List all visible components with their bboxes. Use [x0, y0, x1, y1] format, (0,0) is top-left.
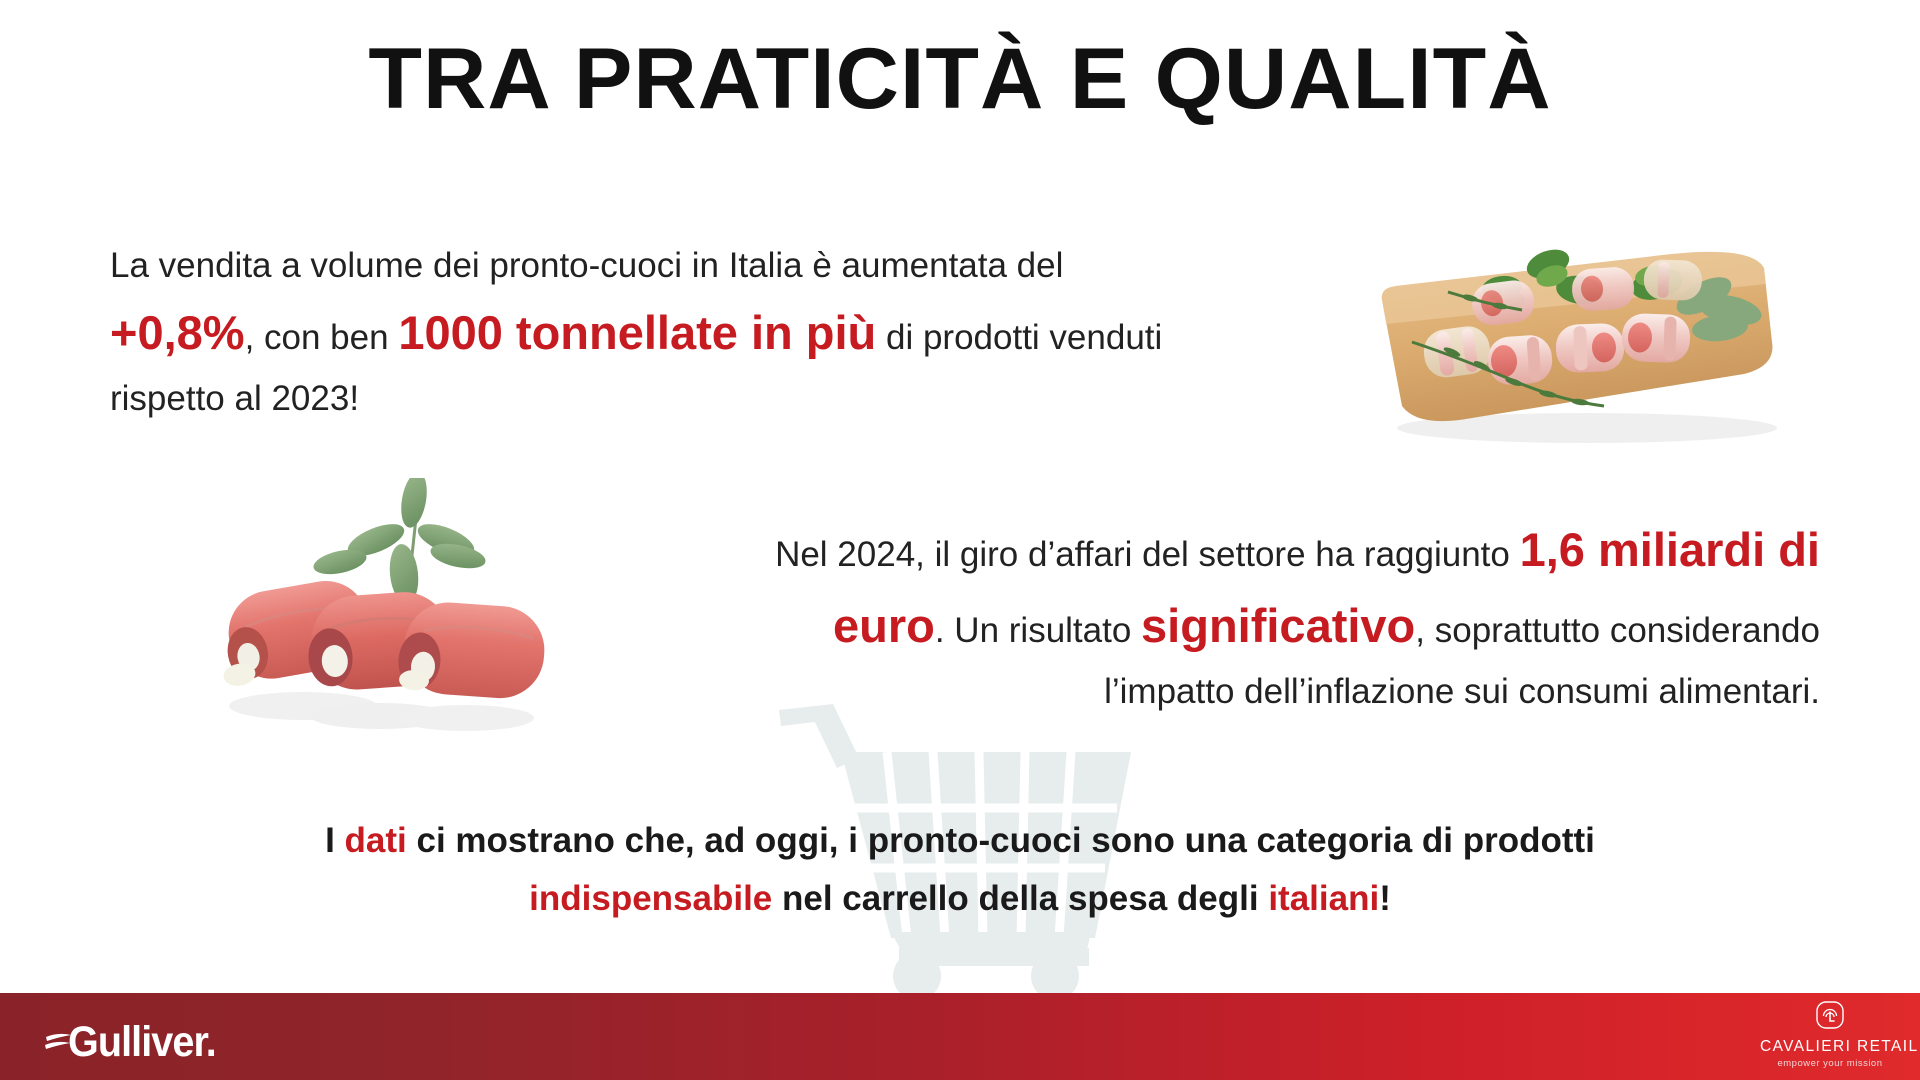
footer-bar — [0, 993, 1920, 1080]
gulliver-wordmark: Gulliver. — [68, 1021, 216, 1064]
para-bot-seg3: ci mostrano che, ad oggi, i pronto-cuoci… — [407, 821, 1595, 860]
cavalieri-retail-name: CAVALIERI RETAIL — [1760, 1038, 1900, 1056]
paragraph-bottom: I dati ci mostrano che, ad oggi, i pront… — [240, 812, 1680, 928]
cavalieri-retail-tagline: empower your mission — [1760, 1058, 1900, 1069]
para-top-seg1: La vendita a volume dei pronto-cuoci in … — [110, 246, 1063, 285]
paragraph-top: La vendita a volume dei pronto-cuoci in … — [110, 238, 1200, 428]
para-bot-highlight-dati: dati — [345, 821, 407, 860]
para-top-seg3: , con ben — [245, 318, 399, 357]
para-bot-seg7: ! — [1379, 879, 1391, 918]
para-bot-seg5: nel carrello della spesa degli — [772, 879, 1268, 918]
page-title: TRA PRATICITÀ E QUALITÀ — [0, 34, 1920, 124]
cavalieri-retail-logo: CAVALIERI RETAIL empower your mission — [1760, 1000, 1900, 1069]
gulliver-logo: Gulliver. — [44, 1016, 229, 1068]
cavalieri-mark-icon — [1815, 1017, 1845, 1034]
para-bot-highlight-italiani: italiani — [1268, 879, 1379, 918]
slide-root: TRA PRATICITÀ E QUALITÀ — [0, 0, 1920, 1080]
para-mid-highlight-significativo: significativo — [1141, 599, 1415, 652]
paragraph-middle: Nel 2024, il giro d’affari del settore h… — [700, 512, 1820, 721]
para-mid-seg1: Nel 2024, il giro d’affari del settore h… — [775, 535, 1520, 574]
para-bot-seg1: I — [325, 821, 344, 860]
wooden-cutting-board-image — [1352, 192, 1792, 447]
para-top-stat-tonnes: 1000 tonnellate in più — [398, 306, 876, 359]
para-mid-seg3: . Un risultato — [935, 611, 1141, 650]
para-top-stat-percent: +0,8% — [110, 306, 245, 359]
beef-rolls-image — [188, 478, 568, 758]
para-bot-highlight-indispensabile: indispensabile — [529, 879, 772, 918]
